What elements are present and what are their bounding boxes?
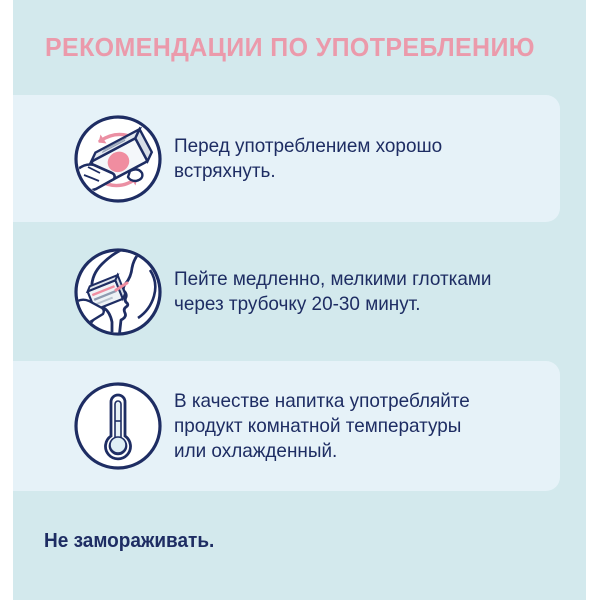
page-title: РЕКОМЕНДАЦИИ ПО УПОТРЕБЛЕНИЮ xyxy=(45,32,535,63)
title-band: РЕКОМЕНДАЦИИ ПО УПОТРЕБЛЕНИЮ xyxy=(13,0,586,95)
recommendation-card-3: В качестве напитка употребляйте продукт … xyxy=(13,361,560,491)
thermometer-icon xyxy=(68,380,168,472)
recommendations-poster: РЕКОМЕНДАЦИИ ПО УПОТРЕБЛЕНИЮ xyxy=(13,0,586,600)
recommendation-text: В качестве напитка употребляйте продукт … xyxy=(174,389,470,464)
recommendation-card-2: Пейте медленно, мелкими глотками через т… xyxy=(13,222,560,361)
shake-package-icon xyxy=(68,113,168,205)
recommendation-text: Перед употреблением хорошо встряхнуть. xyxy=(174,134,548,184)
drink-through-straw-icon xyxy=(68,246,168,338)
do-not-freeze-note: Не замораживать. xyxy=(44,530,214,553)
recommendation-text: Пейте медленно, мелкими глотками через т… xyxy=(174,267,491,317)
recommendation-card-1: Перед употреблением хорошо встряхнуть. xyxy=(13,95,560,222)
